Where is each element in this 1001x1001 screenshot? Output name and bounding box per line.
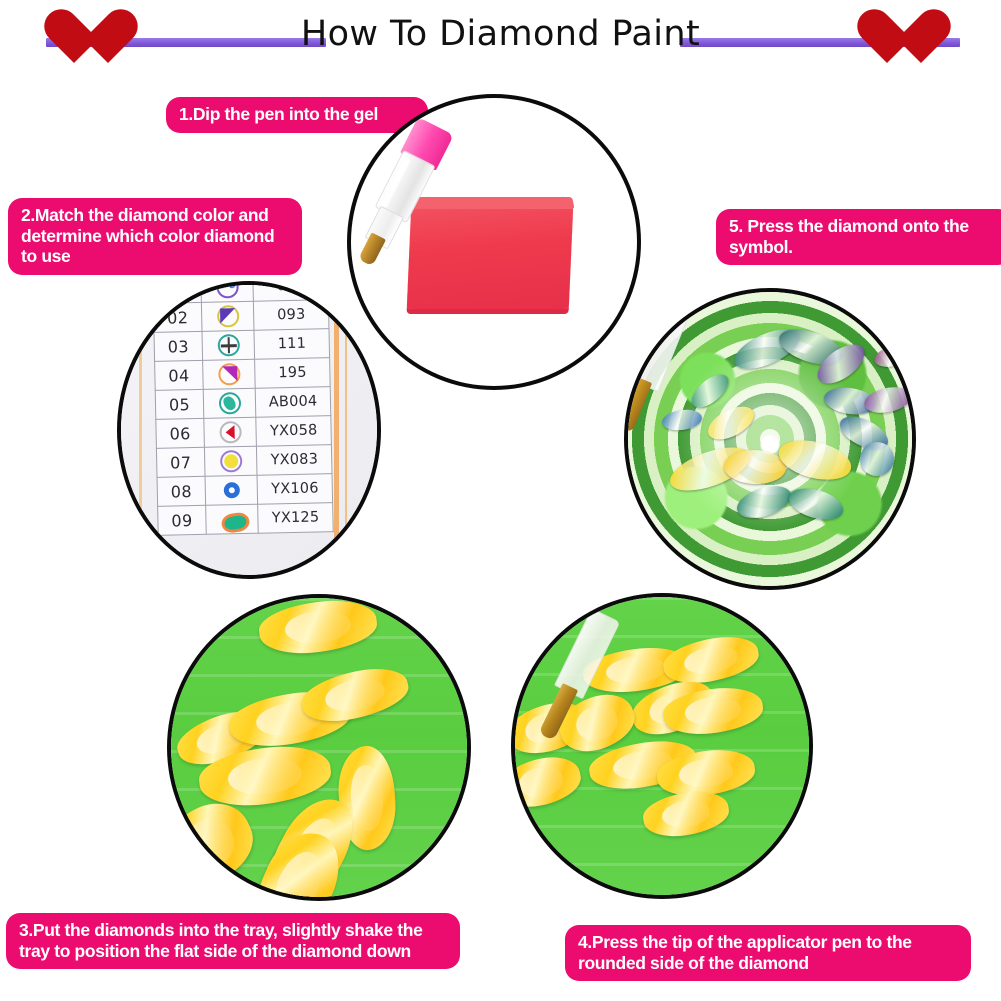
chart-cell-symbol-leaf-icon bbox=[206, 504, 259, 534]
color-chart-table: 0102002093031110419505AB00406YX05807YX08… bbox=[152, 281, 333, 536]
step-2-label: 2.Match the diamond color and determine … bbox=[8, 198, 302, 275]
chart-cell-no: 08 bbox=[157, 476, 206, 506]
chart-cell-no: 07 bbox=[156, 447, 205, 477]
color-chart-row: 03111 bbox=[154, 329, 330, 362]
chart-cell-code: 093 bbox=[254, 300, 329, 331]
color-chart-row: 05AB004 bbox=[155, 387, 331, 420]
chart-cell-code: 111 bbox=[254, 329, 329, 360]
chart-cell-symbol-circle-two-dots-icon bbox=[201, 281, 254, 302]
chart-cell-no: 05 bbox=[155, 389, 204, 419]
chart-cell-no: 04 bbox=[155, 360, 204, 390]
infographic-root: How To Diamond Paint 1.Dip the pen into … bbox=[0, 0, 1001, 1001]
chart-cell-no: 02 bbox=[153, 302, 202, 332]
color-chart-row: 09YX125 bbox=[158, 503, 334, 536]
chart-cell-code: YX058 bbox=[256, 416, 331, 447]
chart-cell-symbol-plus-icon bbox=[202, 330, 255, 360]
step-5-photo bbox=[624, 288, 916, 590]
step-1-photo bbox=[347, 94, 641, 390]
step-3-label: 3.Put the diamonds into the tray, slight… bbox=[6, 913, 460, 969]
page-title: How To Diamond Paint bbox=[0, 14, 1001, 54]
color-chart-row: 07YX083 bbox=[156, 445, 332, 478]
color-chart-row: 02093 bbox=[153, 300, 329, 333]
chart-cell-symbol-slash-oval-icon bbox=[203, 388, 256, 418]
step-5-label: 5. Press the diamond onto the symbol. bbox=[716, 209, 1001, 265]
step-3-photo bbox=[167, 594, 471, 901]
chart-cell-code: YX083 bbox=[257, 445, 332, 476]
chart-cell-symbol-open-ring-icon bbox=[205, 475, 258, 505]
chart-cell-symbol-triangle-down-left-icon bbox=[201, 301, 254, 331]
chart-cell-symbol-arrow-left-icon bbox=[204, 417, 257, 447]
header: How To Diamond Paint bbox=[0, 0, 1001, 80]
pink-gel-pad bbox=[407, 206, 573, 309]
chart-cell-code: AB004 bbox=[255, 387, 330, 418]
chart-cell-symbol-triangle-down-right-icon bbox=[203, 359, 256, 389]
chart-cell-symbol-filled-dot-icon bbox=[205, 446, 258, 476]
step-4-label: 4.Press the tip of the applicator pen to… bbox=[565, 925, 971, 981]
chart-cell-no: 03 bbox=[154, 331, 203, 361]
step-2-photo: 0102002093031110419505AB00406YX05807YX08… bbox=[117, 281, 381, 579]
color-chart-row: 08YX106 bbox=[157, 474, 333, 507]
step-4-photo bbox=[511, 593, 813, 899]
chart-cell-no: 09 bbox=[158, 505, 207, 535]
chart-cell-code: 195 bbox=[255, 358, 330, 389]
color-chart-row: 04195 bbox=[155, 358, 331, 391]
chart-cell-code: YX125 bbox=[258, 503, 333, 534]
chart-cell-no: 06 bbox=[156, 418, 205, 448]
chart-cell-code: YX106 bbox=[257, 474, 332, 505]
chart-cell-no: 01 bbox=[153, 281, 202, 303]
chart-cell-code: 020 bbox=[253, 281, 328, 301]
color-chart-row: 06YX058 bbox=[156, 416, 332, 449]
canvas-diamond-gem bbox=[860, 442, 894, 476]
